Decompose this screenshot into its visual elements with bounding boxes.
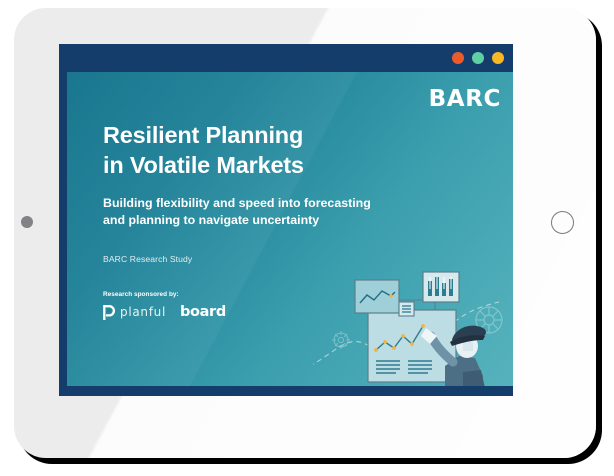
barc-logo: BARC [429, 86, 501, 112]
screenshot-stage: BARC Resilient Planning in Volatile Mark… [0, 0, 614, 476]
analyst-dashboard-illustration [313, 258, 513, 388]
presentation-slide: BARC Resilient Planning in Volatile Mark… [67, 72, 513, 388]
board-wordmark: board [180, 304, 226, 320]
study-label: BARC Research Study [103, 254, 192, 264]
gear-icon-small [332, 331, 350, 349]
tablet-screen: BARC Resilient Planning in Volatile Mark… [59, 44, 513, 396]
minimize-button[interactable] [472, 52, 484, 64]
window-titlebar [59, 44, 513, 72]
page-subtitle: Building flexibility and speed into fore… [103, 195, 371, 229]
maximize-button[interactable] [492, 52, 504, 64]
p-circle-icon [103, 305, 116, 320]
slide-footer-bar [59, 386, 513, 396]
close-button[interactable] [452, 52, 464, 64]
sponsor-label: Research sponsored by: [103, 291, 179, 298]
planful-wordmark: planful [120, 305, 166, 319]
camera-icon [21, 216, 33, 228]
planful-logo: planful [103, 305, 166, 320]
page-title: Resilient Planning in Volatile Markets [103, 120, 304, 180]
home-button[interactable] [551, 211, 574, 234]
window-controls [452, 52, 504, 64]
sponsor-logos: planful board [103, 304, 226, 320]
